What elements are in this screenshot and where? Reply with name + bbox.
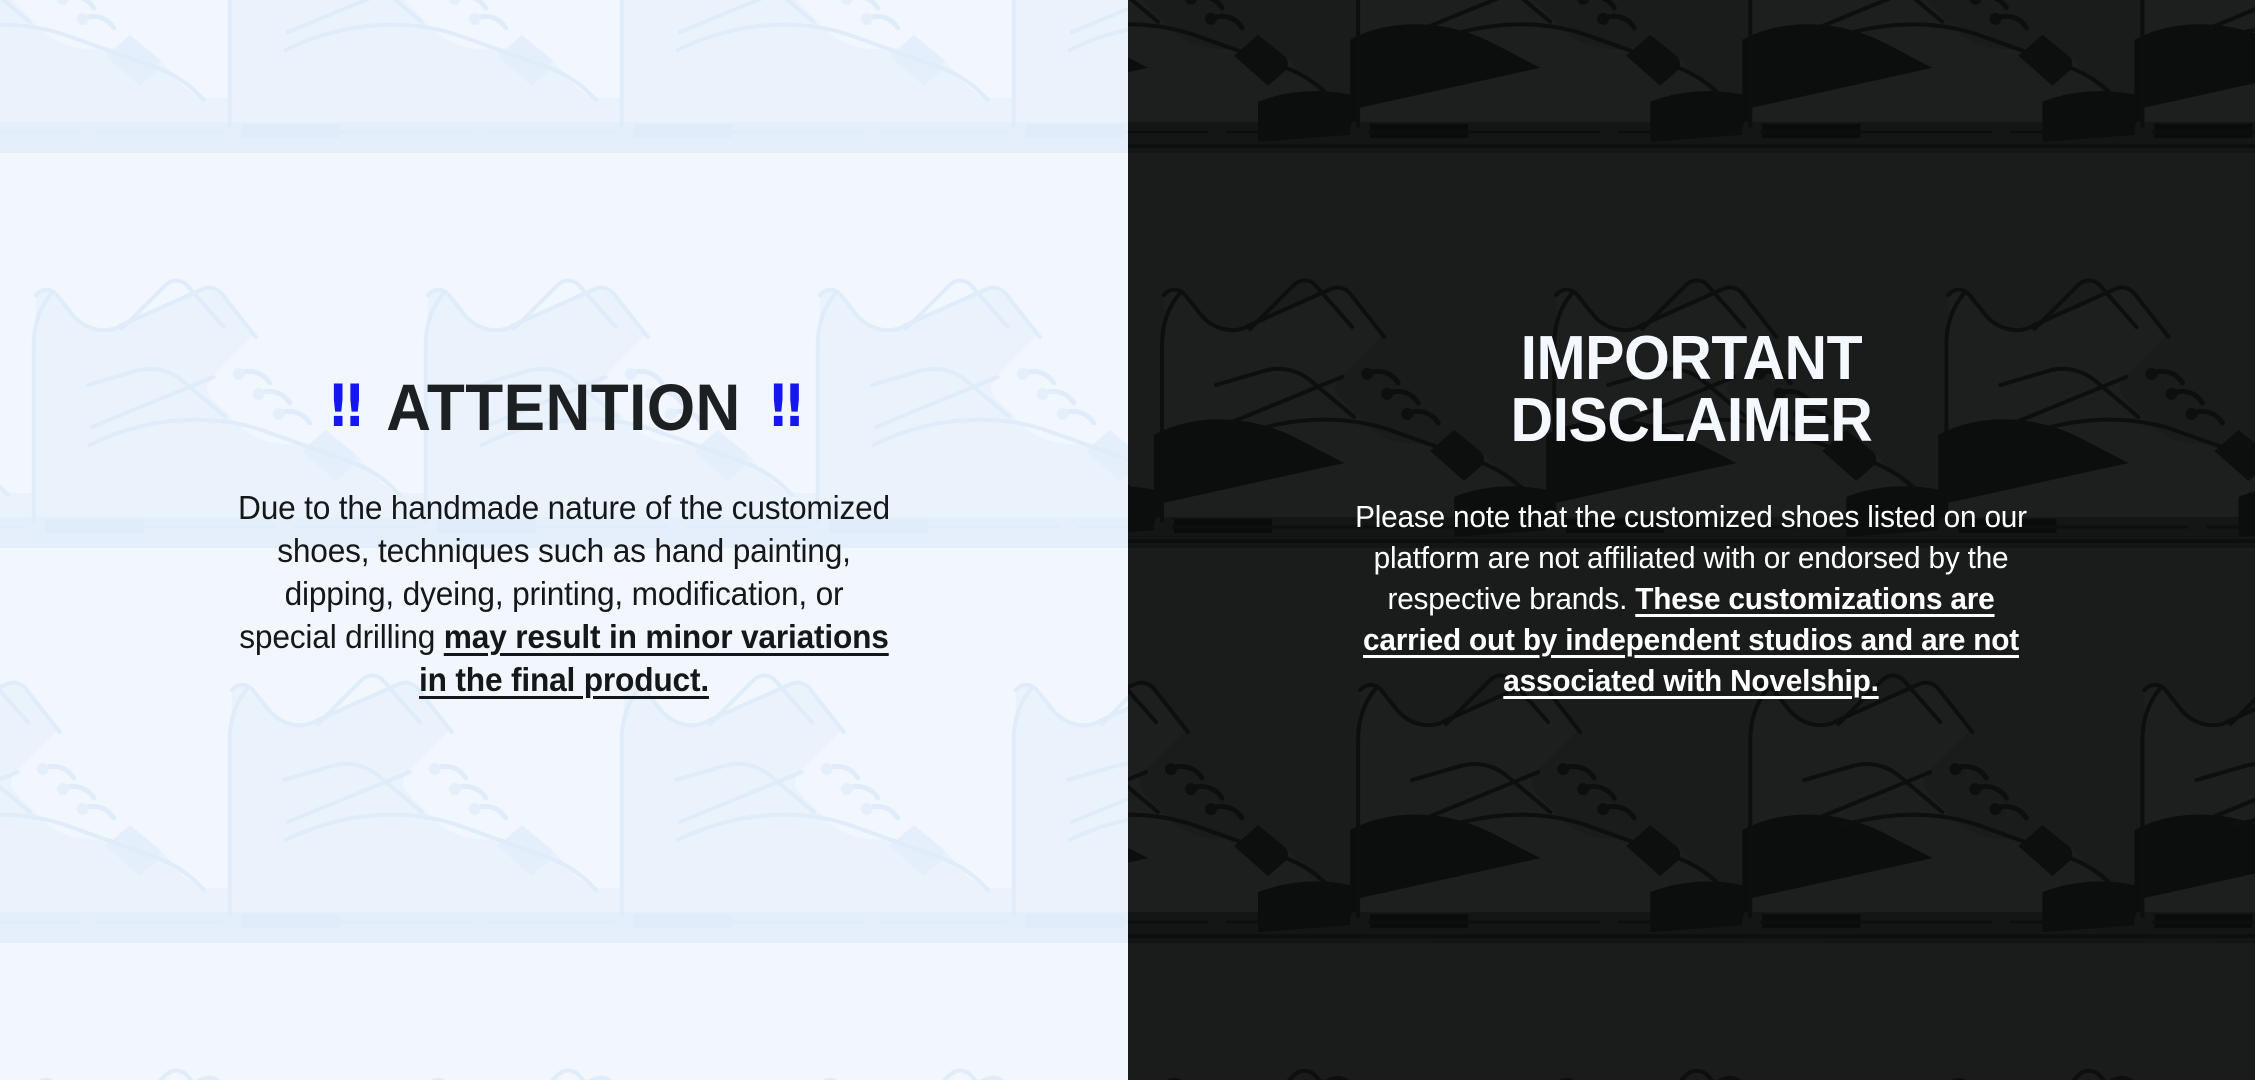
disclaimer-heading: IMPORTANT DISCLAIMER xyxy=(1510,328,1872,452)
double-exclamation-icon-left: !! xyxy=(327,377,360,435)
attention-body: Due to the handmade nature of the custom… xyxy=(233,486,895,701)
disclaimer-heading-line1: IMPORTANT xyxy=(1510,328,1872,390)
double-exclamation-icon-right: !! xyxy=(767,377,800,435)
attention-panel: !! ATTENTION !! Due to the handmade natu… xyxy=(0,0,1128,1080)
disclaimer-body: Please note that the customized shoes li… xyxy=(1355,496,2027,701)
promo-banner: !! ATTENTION !! Due to the handmade natu… xyxy=(0,0,2255,1080)
attention-body-emphasis: may result in minor variations in the fi… xyxy=(419,618,889,698)
disclaimer-panel: IMPORTANT DISCLAIMER Please note that th… xyxy=(1128,0,2255,1080)
attention-heading: !! ATTENTION !! xyxy=(325,374,802,440)
disclaimer-heading-line2: DISCLAIMER xyxy=(1510,390,1872,452)
attention-heading-text: ATTENTION xyxy=(386,374,741,440)
